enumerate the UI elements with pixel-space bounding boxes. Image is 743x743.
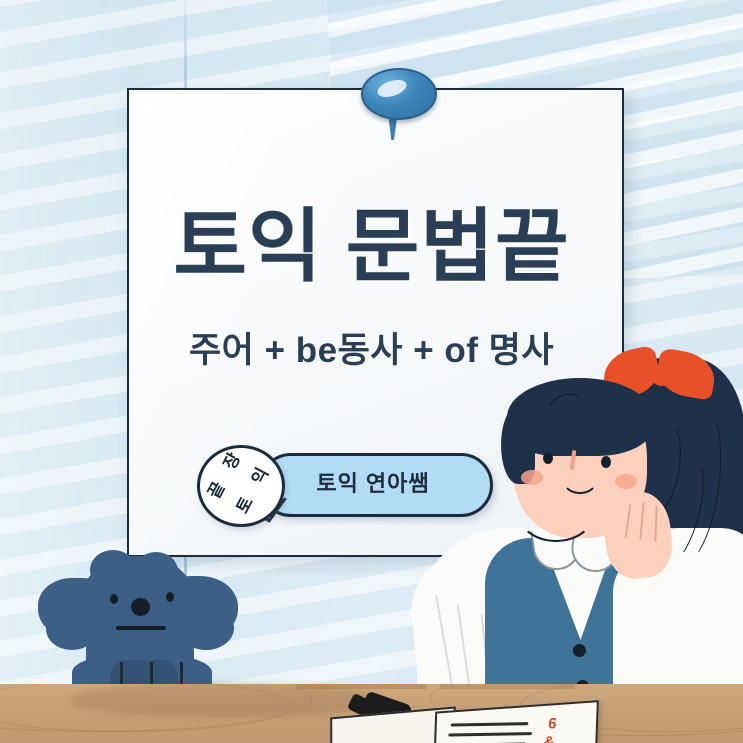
pushpin-head	[361, 68, 437, 120]
notebook-line-2	[448, 732, 532, 736]
badge-char-4: 익	[249, 465, 271, 487]
bow-knot	[651, 366, 673, 386]
eye-left	[543, 452, 553, 464]
cheek-left	[521, 470, 543, 485]
dog-mouth	[116, 626, 166, 630]
badge-char-1: 끝	[205, 479, 227, 501]
dog-eye-right	[166, 592, 174, 602]
badge-char-2: 장	[220, 450, 242, 472]
grain-ring-2	[0, 684, 292, 732]
pushpin-icon	[355, 62, 439, 140]
notebook-line-1	[451, 722, 529, 726]
dog-nose	[131, 598, 150, 616]
pushpin-highlight	[375, 77, 408, 101]
eye-right	[601, 456, 611, 468]
notebook-mark-1: 6	[547, 715, 558, 732]
notebook-icon: 6 &	[330, 708, 610, 743]
desk-edge-highlight-right	[440, 684, 575, 689]
woman-illustration	[455, 352, 743, 690]
vest-button-1	[573, 644, 586, 657]
cheek-right	[615, 474, 637, 489]
page-title: 토익 문법끝	[0, 182, 743, 298]
dog-head-fluff-1	[90, 550, 136, 590]
badge-char-3: 토	[233, 494, 255, 516]
poster-canvas: 토익 문법끝 주어 + be동사 + of 명사 토익 연아쌤 끝 장 토 익	[0, 0, 743, 743]
dog-head-fluff-2	[134, 552, 178, 590]
dog-icon	[38, 550, 238, 695]
dog-eye-left	[110, 594, 118, 604]
notebook-mark-2: &	[543, 733, 556, 743]
speech-bubble-group: 토익 연아쌤 끝 장 토 익	[197, 445, 497, 527]
speech-bubble-label: 토익 연아쌤	[259, 453, 487, 511]
